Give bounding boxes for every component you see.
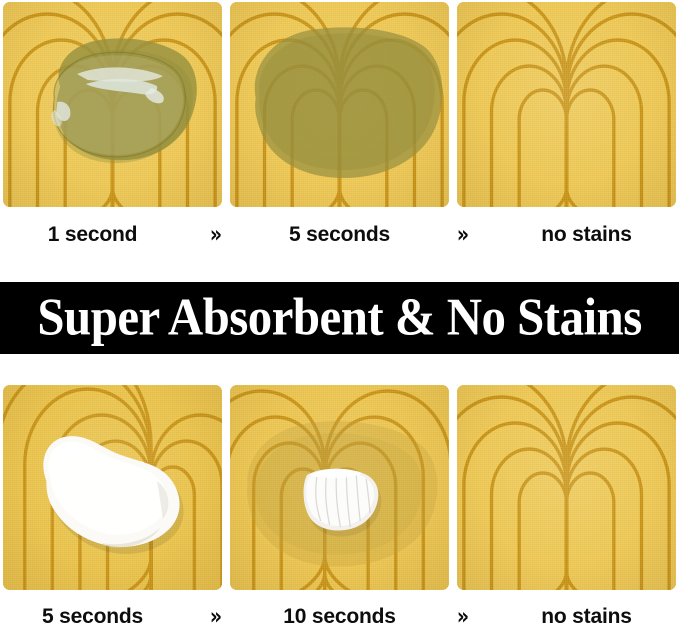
headline-text: Super Absorbent & No Stains [37,292,641,345]
fabric-pattern-arches [3,385,222,590]
caption-water-1-second: 1 second [0,223,185,247]
panel-water-no-stains [457,2,676,207]
fabric-pattern-arches [230,2,449,207]
fabric-pattern-arches [457,2,676,207]
fabric-pattern-arches [230,385,449,590]
caption-water-no-stains: no stains [494,223,679,247]
panel-cream-no-stains [457,385,676,590]
headline-banner: Super Absorbent & No Stains [0,282,679,354]
panel-cream-10-seconds [230,385,449,590]
chevron-right-double-icon: » [438,224,489,247]
chevron-right-double-icon: » [191,606,242,629]
bottom-image-row [0,385,679,590]
caption-cream-5-seconds: 5 seconds [0,605,185,629]
top-caption-row: 1 second » 5 seconds » no stains [0,214,679,256]
top-image-row [0,2,679,207]
chevron-right-double-icon: » [191,224,242,247]
chevron-right-double-icon: » [438,606,489,629]
panel-cream-5-seconds [3,385,222,590]
bottom-caption-row: 5 seconds » 10 seconds » no stains [0,598,679,636]
panel-water-5-seconds [230,2,449,207]
caption-cream-no-stains: no stains [494,605,679,629]
caption-water-5-seconds: 5 seconds [247,223,432,247]
caption-cream-10-seconds: 10 seconds [247,605,432,629]
panel-water-1-second [3,2,222,207]
fabric-pattern-arches [3,2,222,207]
fabric-pattern-arches [457,385,676,590]
